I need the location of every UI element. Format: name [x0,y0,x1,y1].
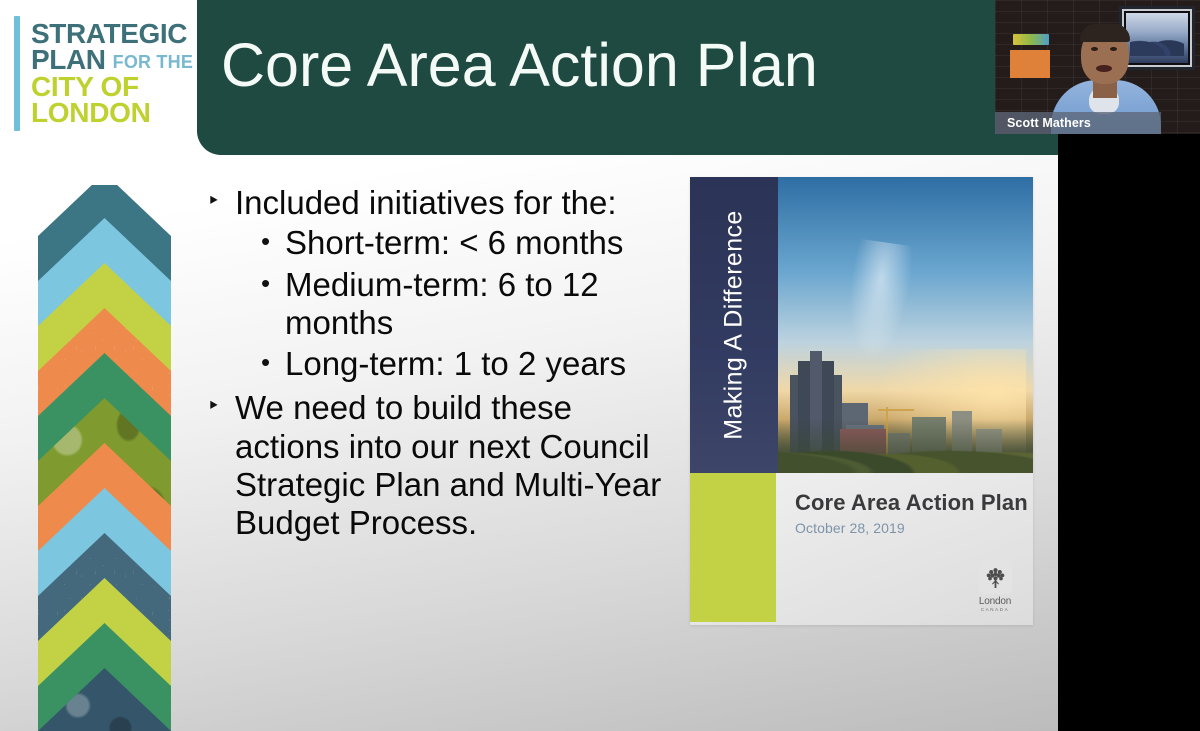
screen-root: STRATEGIC PLAN FOR THE CITY OF LONDON Co… [0,0,1200,731]
london-canada-logo: London CANADA [972,561,1018,612]
crane-arm [878,409,914,411]
participant-eye-right [1110,47,1117,51]
thumbnail-title: Core Area Action Plan [795,490,1028,516]
bullet-text: Short-term: < 6 months [285,224,677,262]
page-title: Core Area Action Plan [221,30,818,100]
bullet-marker: ‣ [207,184,235,222]
thumbnail-date: October 28, 2019 [795,520,905,536]
logo-line-2: PLAN FOR THE [31,47,193,73]
video-participant-tile[interactable]: Scott Mathers [995,0,1200,134]
strategic-plan-logo: STRATEGIC PLAN FOR THE CITY OF LONDON [14,16,194,131]
logo-rule [14,16,20,131]
logo-london-text: LONDON [31,100,151,126]
wall-poster [1013,34,1049,45]
bullet-marker: • [261,345,285,383]
thumbnail-sidebar: Making A Difference [690,177,778,473]
making-a-difference-label: Making A Difference [720,210,749,440]
london-logo-subtitle: CANADA [972,607,1018,612]
bullet-item: • Long-term: 1 to 2 years [261,345,677,383]
participant-name-bar: Scott Mathers [995,112,1161,134]
logo-forthe-text: FOR THE [113,54,193,71]
london-logo-name: London [972,596,1018,607]
logo-line-3: CITY OF [31,74,193,100]
bullet-text: Long-term: 1 to 2 years [285,345,677,383]
sky-haze [840,239,916,366]
bullet-group-2: ‣ We need to build these actions into ou… [207,389,677,542]
bullet-marker: ‣ [207,389,235,542]
participant-hair [1080,24,1130,42]
bullet-item: ‣ Included initiatives for the: [207,184,677,222]
tree-icon [979,561,1012,594]
logo-cityof-text: CITY OF [31,74,139,100]
bullet-marker: • [261,266,285,343]
bullet-item: • Medium-term: 6 to 12 months [261,266,677,343]
bullet-item: • Short-term: < 6 months [261,224,677,262]
bullet-group-1: ‣ Included initiatives for the: • Short-… [207,184,677,383]
wall-notice [1010,50,1050,78]
chevron-decoration [38,185,171,731]
bullet-item: ‣ We need to build these actions into ou… [207,389,677,542]
report-cover-thumbnail: Making A Difference Core Area Action Pla… [690,177,1033,625]
presentation-slide: STRATEGIC PLAN FOR THE CITY OF LONDON Co… [0,0,1058,731]
participant-mouth [1096,65,1112,72]
logo-plan-text: PLAN [31,47,106,73]
bullet-text: Medium-term: 6 to 12 months [285,266,677,343]
thumbnail-accent-block [690,473,776,622]
bullet-marker: • [261,224,285,262]
participant-name: Scott Mathers [1007,116,1091,130]
participant-eye-left [1091,47,1098,51]
logo-wordmark: STRATEGIC PLAN FOR THE CITY OF LONDON [31,16,193,131]
bullet-text: Included initiatives for the: [235,184,677,222]
slide-body-content: ‣ Included initiatives for the: • Short-… [207,184,677,544]
city-skyline-photo: Making A Difference [690,177,1033,473]
logo-line-4: LONDON [31,100,193,126]
bullet-text: We need to build these actions into our … [235,389,677,542]
black-filler-right [1058,134,1200,731]
slide-header-bar: Core Area Action Plan [197,0,1058,155]
